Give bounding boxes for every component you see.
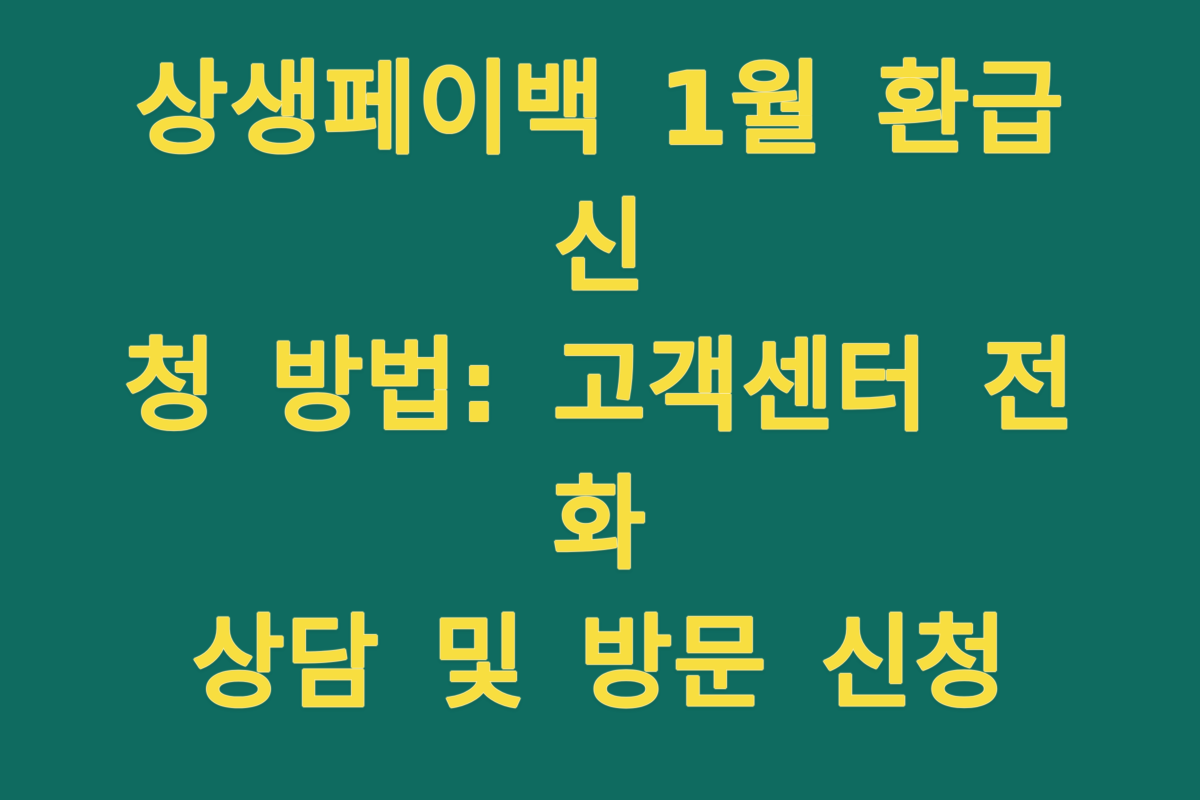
page-title: 상생페이백 1월 환급 신 청 방법: 고객센터 전화 상담 및 방문 신청 (85, 40, 1115, 732)
headline-block: 상생페이백 1월 환급 신 청 방법: 고객센터 전화 상담 및 방문 신청 (85, 40, 1115, 732)
thumbnail-card: 상생페이백 1월 환급 신 청 방법: 고객센터 전화 상담 및 방문 신청 (0, 0, 1200, 800)
